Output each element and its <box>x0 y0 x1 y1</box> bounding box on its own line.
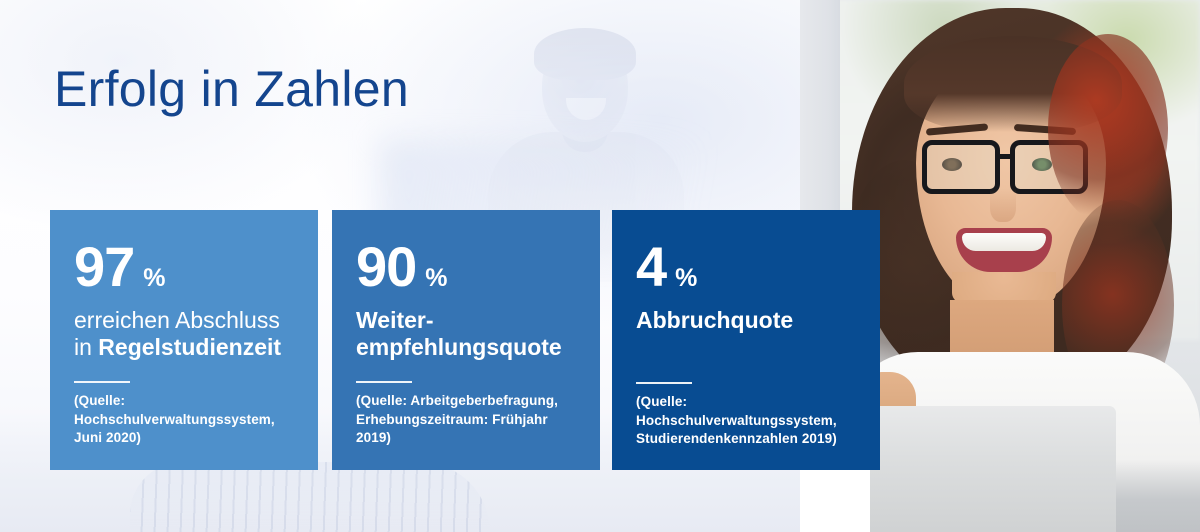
stat-card-weiterempfehlungsquote[interactable]: 90 % Weiter- empfehlungsquote (Quelle: A… <box>332 210 600 470</box>
stat-source: (Quelle: Hochschulverwaltungssystem, Stu… <box>636 393 856 448</box>
stat-card-regelstudienzeit[interactable]: 97 % erreichen Abschluss in Regelstudien… <box>50 210 318 470</box>
glasses-lens-left <box>922 140 1000 194</box>
silhouette-hair <box>534 28 636 80</box>
stat-value-row: 4 % <box>636 240 856 293</box>
card-divider <box>356 381 412 383</box>
card-divider <box>636 382 692 384</box>
page-title: Erfolg in Zahlen <box>54 60 409 118</box>
woman-hair-curl-top-right <box>1048 34 1168 224</box>
slide-canvas: Erfolg in Zahlen 97 % erreichen Abschlus… <box>0 0 1200 532</box>
stat-value-row: 90 % <box>356 240 576 293</box>
stat-description-emphasis: Regelstudienzeit <box>98 334 281 360</box>
card-divider <box>74 381 130 383</box>
stat-card-abbruchquote[interactable]: 4 % Abbruchquote (Quelle: Hochschulverwa… <box>612 210 880 470</box>
stat-description: Abbruchquote <box>636 307 856 334</box>
stat-description: Weiter- empfehlungsquote <box>356 307 576 361</box>
stat-number: 90 <box>356 240 416 293</box>
stat-value-row: 97 % <box>74 240 294 293</box>
woman-nose <box>990 188 1016 222</box>
woman-teeth <box>962 233 1046 251</box>
background-chairs <box>130 462 490 532</box>
stat-source: (Quelle: Arbeitgeberbefragung, Erhebungs… <box>356 392 576 447</box>
stat-percent-sign: % <box>143 264 165 293</box>
stat-description: erreichen Abschluss in Regelstudienzeit <box>74 307 294 361</box>
woman-smile <box>956 228 1052 272</box>
stat-number: 4 <box>636 240 666 293</box>
stat-number: 97 <box>74 240 134 293</box>
stat-percent-sign: % <box>675 264 697 293</box>
stat-source: (Quelle: Hochschulverwaltungssystem, Jun… <box>74 392 294 447</box>
stat-percent-sign: % <box>425 264 447 293</box>
